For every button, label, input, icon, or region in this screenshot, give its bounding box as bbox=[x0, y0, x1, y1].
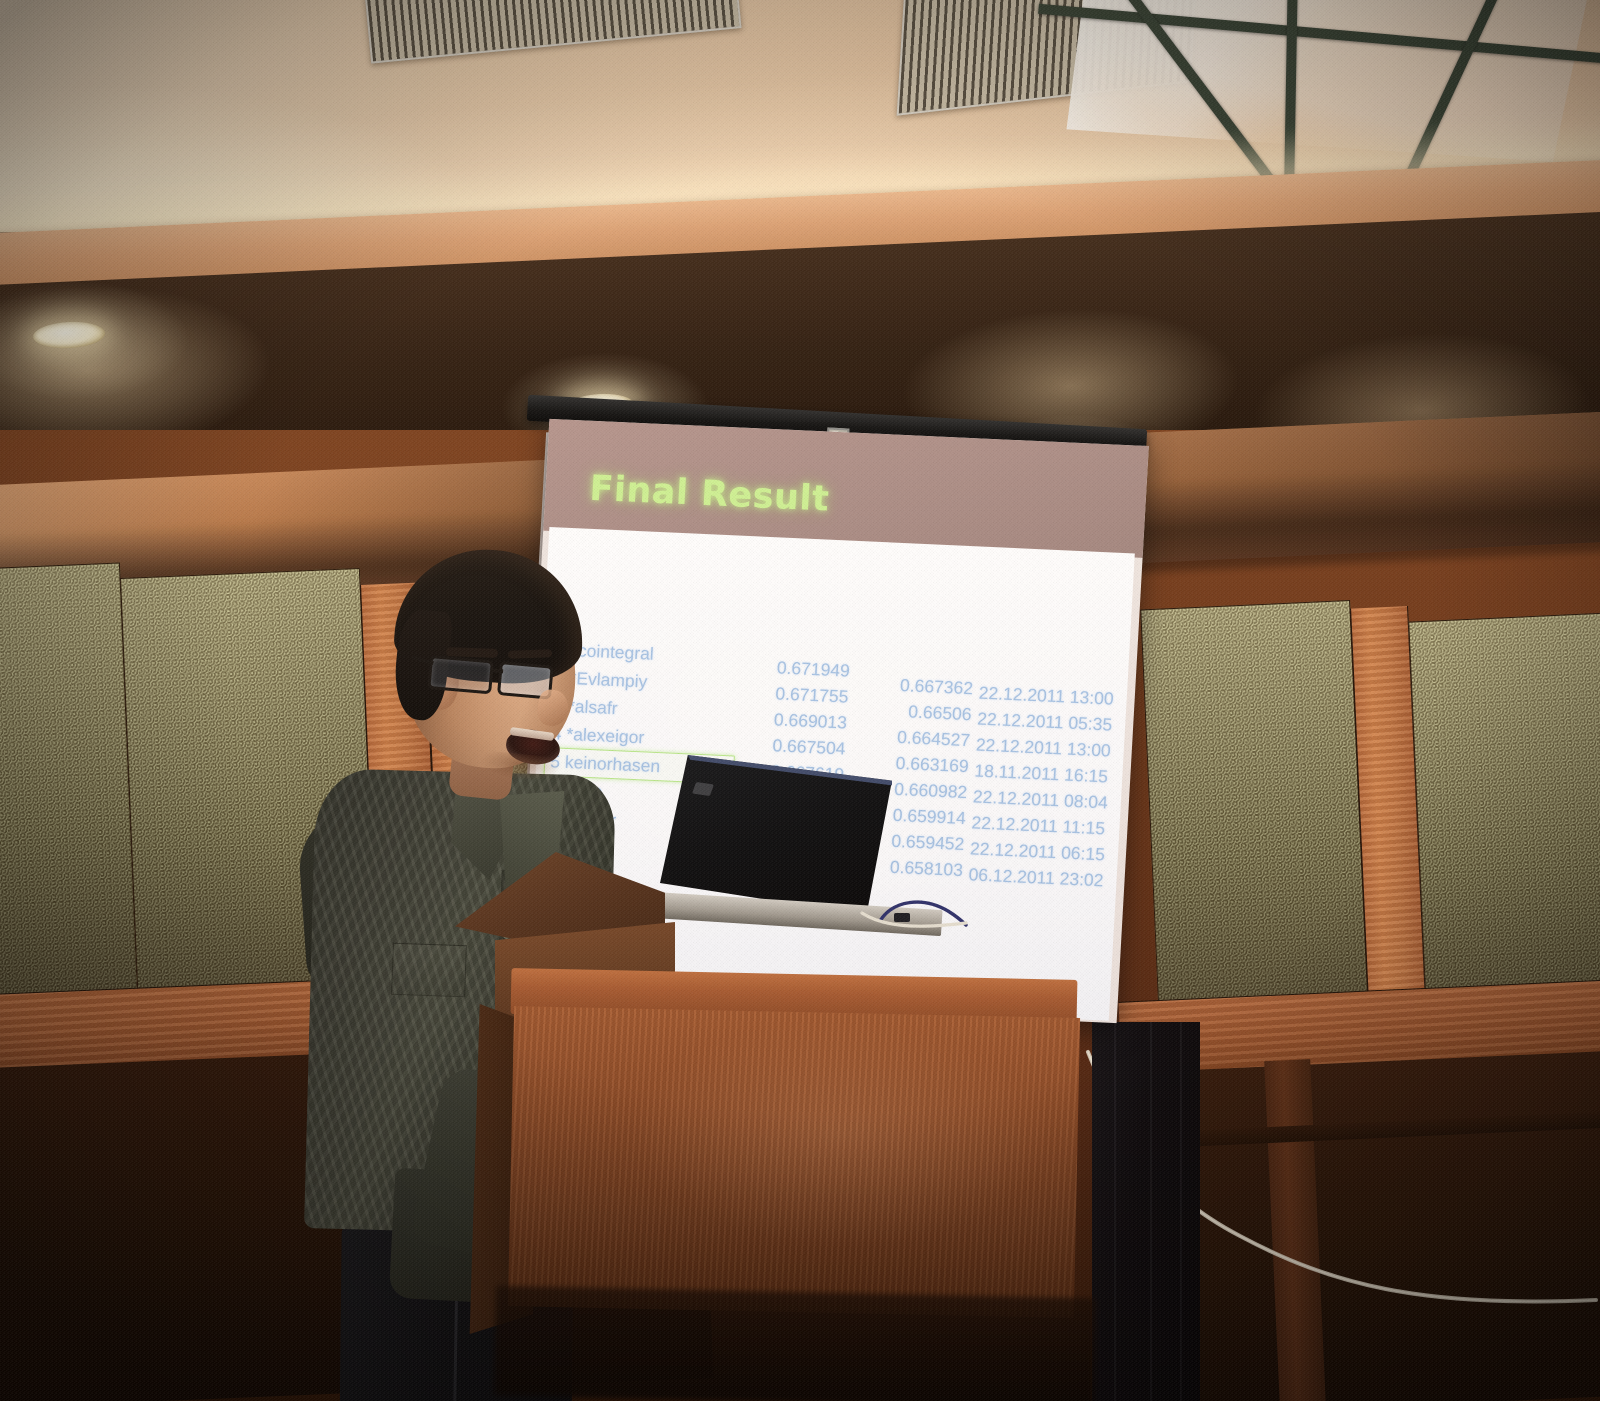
podium-wood-texture bbox=[508, 1006, 1080, 1318]
row-score-1: 0.671755 bbox=[752, 682, 849, 707]
stage-curtain bbox=[1092, 1022, 1200, 1401]
row-timestamp: 18.11.2011 16:15 bbox=[974, 760, 1109, 787]
row-score-1: 0.669013 bbox=[750, 708, 847, 733]
row-timestamp: 22.12.2011 05:35 bbox=[977, 709, 1113, 736]
presentation-photo: Final Result 1 *cointegral 0.671949 0.66… bbox=[0, 0, 1600, 1401]
eyeglass-lens bbox=[427, 655, 494, 694]
row-score-2: 0.667362 bbox=[877, 674, 974, 699]
curtain-fold bbox=[1180, 1022, 1182, 1401]
podium-shadow bbox=[494, 1286, 1096, 1401]
podium bbox=[455, 852, 1075, 1401]
curtain-fold bbox=[1150, 1022, 1152, 1401]
curtain-fold bbox=[1114, 1022, 1116, 1401]
acoustic-fabric-panel bbox=[1408, 612, 1600, 1033]
row-timestamp: 22.12.2011 13:00 bbox=[975, 735, 1111, 762]
row-timestamp: 22.12.2011 11:15 bbox=[971, 812, 1106, 839]
acoustic-fabric-panel bbox=[1140, 600, 1368, 1019]
row-score-1: 0.671949 bbox=[753, 656, 850, 681]
row-timestamp: 22.12.2011 08:04 bbox=[972, 786, 1108, 813]
acoustic-fabric-panel bbox=[0, 562, 138, 999]
row-score-2: 0.66506 bbox=[875, 700, 972, 725]
row-timestamp: 22.12.2011 13:00 bbox=[978, 683, 1114, 710]
row-score-2: 0.664527 bbox=[874, 726, 971, 751]
